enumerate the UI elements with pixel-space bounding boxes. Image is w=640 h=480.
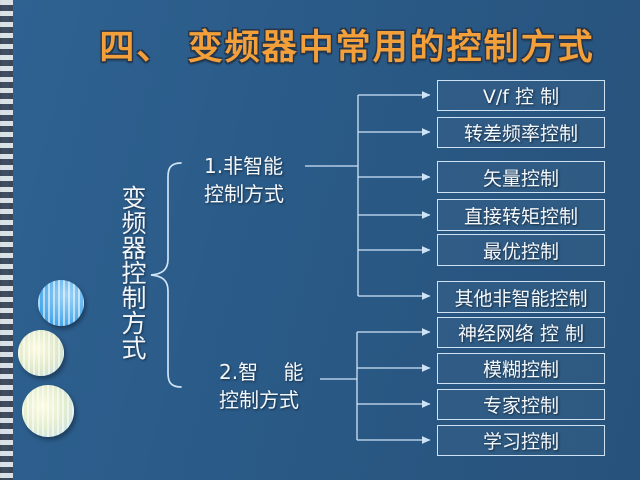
circle-stripe-overlay [22,385,74,437]
slide-canvas: 四、 变频器中常用的控制方式 变频器控制方式 1.非智能 控制方式 2.智 能 … [0,0,640,480]
node-box-vector-control[interactable]: 矢量控制 [437,161,605,193]
slide-title: 四、 变频器中常用的控制方式 [62,18,632,70]
branch-label-non-intelligent: 1.非智能 控制方式 [204,152,284,208]
decorative-circle-blue [38,280,84,326]
node-box-other-nonintelligent[interactable]: 其他非智能控制 [437,281,605,313]
node-box-direct-torque[interactable]: 直接转矩控制 [437,199,605,231]
node-box-vf-control[interactable]: V/f 控 制 [437,80,605,111]
node-box-learning-control[interactable]: 学习控制 [437,425,605,456]
node-box-optimal-control[interactable]: 最优控制 [437,234,605,266]
root-node-label: 变频器控制方式 [106,152,148,392]
decorative-circle-pale-2 [22,385,74,437]
circle-stripe-overlay [18,330,64,376]
decorative-circle-pale-1 [18,330,64,376]
branch-label-intelligent: 2.智 能 控制方式 [219,358,304,414]
circle-stripe-overlay [38,280,84,326]
film-strip-icon [0,0,13,480]
node-box-slip-frequency[interactable]: 转差频率控制 [437,117,605,148]
node-box-neural-network[interactable]: 神经网络 控 制 [437,317,605,348]
curly-brace-icon [148,160,184,390]
node-box-expert-control[interactable]: 专家控制 [437,389,605,420]
node-box-fuzzy-control[interactable]: 模糊控制 [437,353,605,384]
